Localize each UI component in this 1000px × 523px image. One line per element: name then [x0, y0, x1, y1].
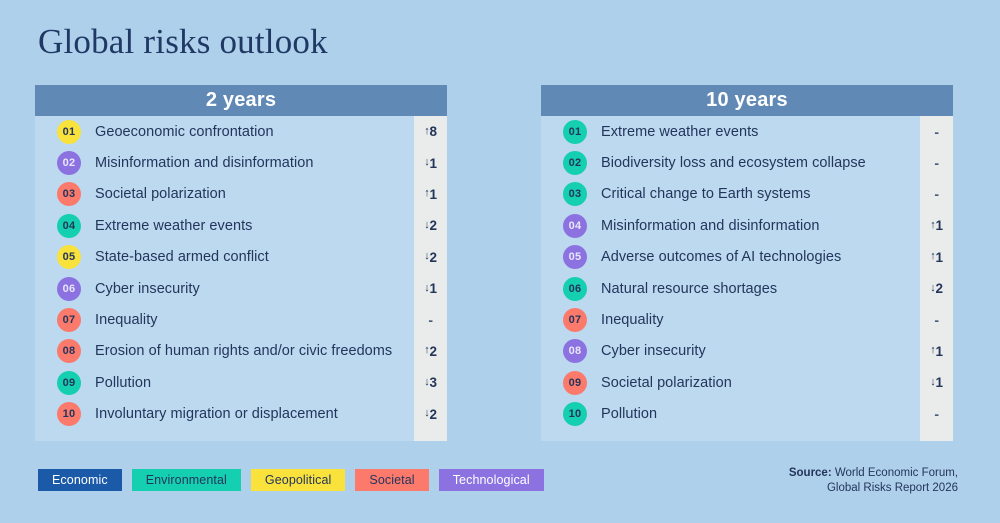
- category-legend: EconomicEnvironmentalGeopoliticalSocieta…: [38, 469, 544, 491]
- rank-badge: 07: [57, 308, 81, 332]
- rank-change-none: -: [920, 399, 953, 430]
- risk-row: 08Cyber insecurity↑1: [541, 336, 953, 367]
- rank-change-up: ↑2: [414, 336, 447, 367]
- legend-item-technological[interactable]: Technological: [439, 469, 544, 491]
- rank-change-value: 2: [429, 250, 436, 265]
- legend-item-environmental[interactable]: Environmental: [132, 469, 241, 491]
- risk-label: Extreme weather events: [601, 124, 758, 140]
- risk-row: 02Biodiversity loss and ecosystem collap…: [541, 147, 953, 178]
- source-line-1: World Economic Forum,: [832, 467, 958, 479]
- panel-header-two-years: 2 years: [35, 85, 447, 116]
- arrow-down-icon: ↓: [424, 157, 429, 168]
- risk-row: 06Natural resource shortages↓2: [541, 273, 953, 304]
- arrow-up-icon: ↑: [424, 126, 429, 137]
- legend-item-societal[interactable]: Societal: [355, 469, 428, 491]
- arrow-up-icon: ↑: [930, 251, 935, 262]
- rank-change-value: 1: [935, 218, 942, 233]
- rank-change-value: 1: [935, 250, 942, 265]
- legend-item-economic[interactable]: Economic: [38, 469, 122, 491]
- rank-change-value: 2: [429, 218, 436, 233]
- rank-badge: 08: [57, 339, 81, 363]
- rank-change-down: ↓2: [414, 210, 447, 241]
- rank-change-value: 1: [935, 375, 942, 390]
- source-line-2: Global Risks Report 2026: [827, 482, 958, 494]
- rank-badge: 01: [563, 120, 587, 144]
- risk-label: Inequality: [601, 312, 664, 328]
- rank-change-down: ↓2: [414, 399, 447, 430]
- arrow-down-icon: ↓: [930, 377, 935, 388]
- risk-label: Adverse outcomes of AI technologies: [601, 249, 841, 265]
- risk-label: Inequality: [95, 312, 158, 328]
- panel-header-ten-years: 10 years: [541, 85, 953, 116]
- arrow-down-icon: ↓: [930, 283, 935, 294]
- rank-change-value: 2: [429, 407, 436, 422]
- risk-row: 02Misinformation and disinformation↓1: [35, 147, 447, 178]
- arrow-down-icon: ↓: [424, 220, 429, 231]
- rank-badge: 10: [57, 402, 81, 426]
- arrow-down-icon: ↓: [424, 251, 429, 262]
- rank-change-up: ↑8: [414, 116, 447, 147]
- rank-badge: 02: [57, 151, 81, 175]
- risk-label: Cyber insecurity: [601, 343, 706, 359]
- rank-change-value: 1: [429, 156, 436, 171]
- risk-label: Geoeconomic confrontation: [95, 124, 274, 140]
- panel-ten-years: 10 years 01Extreme weather events-02Biod…: [541, 85, 953, 441]
- risk-row: 09Pollution↓3: [35, 367, 447, 398]
- page-title: Global risks outlook: [38, 22, 328, 62]
- rank-change-value: 8: [429, 124, 436, 139]
- rank-badge: 07: [563, 308, 587, 332]
- panel-two-years: 2 years 01Geoeconomic confrontation↑802M…: [35, 85, 447, 441]
- risk-label: State-based armed conflict: [95, 249, 269, 265]
- rank-change-none: -: [920, 147, 953, 178]
- risk-row: 09Societal polarization↓1: [541, 367, 953, 398]
- rank-change-value: 2: [935, 281, 942, 296]
- rank-badge: 04: [57, 214, 81, 238]
- rank-badge: 09: [563, 371, 587, 395]
- global-risks-outlook-page: Global risks outlook 2 years 01Geoeconom…: [0, 0, 1000, 523]
- risk-list-ten-years: 01Extreme weather events-02Biodiversity …: [541, 116, 953, 441]
- rank-change-up: ↑1: [414, 179, 447, 210]
- arrow-up-icon: ↑: [930, 220, 935, 231]
- rank-change-down: ↓2: [920, 273, 953, 304]
- rank-change-value: 2: [429, 344, 436, 359]
- arrow-up-icon: ↑: [424, 345, 429, 356]
- rank-change-none: -: [920, 179, 953, 210]
- rank-change-value: 1: [935, 344, 942, 359]
- rank-change-up: ↑1: [920, 210, 953, 241]
- rank-badge: 08: [563, 339, 587, 363]
- arrow-down-icon: ↓: [424, 283, 429, 294]
- risk-row: 03Critical change to Earth systems-: [541, 179, 953, 210]
- rank-badge: 03: [57, 182, 81, 206]
- risk-label: Biodiversity loss and ecosystem collapse: [601, 155, 866, 171]
- risk-row: 01Extreme weather events-: [541, 116, 953, 147]
- rank-change-down: ↓2: [414, 242, 447, 273]
- risk-row: 07Inequality-: [541, 304, 953, 335]
- arrow-up-icon: ↑: [930, 345, 935, 356]
- rank-badge: 04: [563, 214, 587, 238]
- risk-row: 10Involuntary migration or displacement↓…: [35, 399, 447, 430]
- risk-row: 04Extreme weather events↓2: [35, 210, 447, 241]
- risk-row: 05Adverse outcomes of AI technologies↑1: [541, 242, 953, 273]
- rank-badge: 05: [563, 245, 587, 269]
- risk-label: Critical change to Earth systems: [601, 186, 811, 202]
- risk-label: Erosion of human rights and/or civic fre…: [95, 343, 392, 359]
- rank-badge: 09: [57, 371, 81, 395]
- rank-change-up: ↑1: [920, 242, 953, 273]
- rank-badge: 05: [57, 245, 81, 269]
- risk-label: Pollution: [601, 406, 657, 422]
- legend-item-geopolitical[interactable]: Geopolitical: [251, 469, 346, 491]
- rank-change-value: 1: [429, 187, 436, 202]
- risk-row: 01Geoeconomic confrontation↑8: [35, 116, 447, 147]
- risk-row: 04Misinformation and disinformation↑1: [541, 210, 953, 241]
- rank-badge: 06: [57, 277, 81, 301]
- rank-change-none: -: [414, 304, 447, 335]
- risk-label: Cyber insecurity: [95, 281, 200, 297]
- risk-label: Extreme weather events: [95, 218, 252, 234]
- rank-change-down: ↓1: [414, 147, 447, 178]
- risk-label: Misinformation and disinformation: [95, 155, 313, 171]
- risk-label: Societal polarization: [95, 186, 226, 202]
- source-note: Source: World Economic Forum, Global Ris…: [789, 466, 958, 496]
- rank-change-value: 1: [429, 281, 436, 296]
- rank-change-none: -: [920, 304, 953, 335]
- risk-label: Societal polarization: [601, 375, 732, 391]
- rank-badge: 06: [563, 277, 587, 301]
- risk-row: 10Pollution-: [541, 399, 953, 430]
- risk-list-two-years: 01Geoeconomic confrontation↑802Misinform…: [35, 116, 447, 441]
- rank-badge: 01: [57, 120, 81, 144]
- rank-change-none: -: [920, 116, 953, 147]
- risk-label: Pollution: [95, 375, 151, 391]
- risk-label: Natural resource shortages: [601, 281, 777, 297]
- rank-change-down: ↓1: [414, 273, 447, 304]
- source-label: Source: World Economic Forum,: [789, 467, 958, 479]
- rank-badge: 02: [563, 151, 587, 175]
- risk-row: 07Inequality-: [35, 304, 447, 335]
- rank-badge: 10: [563, 402, 587, 426]
- risk-label: Involuntary migration or displacement: [95, 406, 338, 422]
- risk-row: 05State-based armed conflict↓2: [35, 242, 447, 273]
- risk-row: 03Societal polarization↑1: [35, 179, 447, 210]
- rank-badge: 03: [563, 182, 587, 206]
- risk-row: 08Erosion of human rights and/or civic f…: [35, 336, 447, 367]
- risk-row: 06Cyber insecurity↓1: [35, 273, 447, 304]
- arrow-up-icon: ↑: [424, 188, 429, 199]
- arrow-down-icon: ↓: [424, 377, 429, 388]
- rank-change-down: ↓1: [920, 367, 953, 398]
- risk-label: Misinformation and disinformation: [601, 218, 819, 234]
- arrow-down-icon: ↓: [424, 408, 429, 419]
- rank-change-value: 3: [429, 375, 436, 390]
- rank-change-up: ↑1: [920, 336, 953, 367]
- source-prefix: Source:: [789, 467, 832, 479]
- rank-change-down: ↓3: [414, 367, 447, 398]
